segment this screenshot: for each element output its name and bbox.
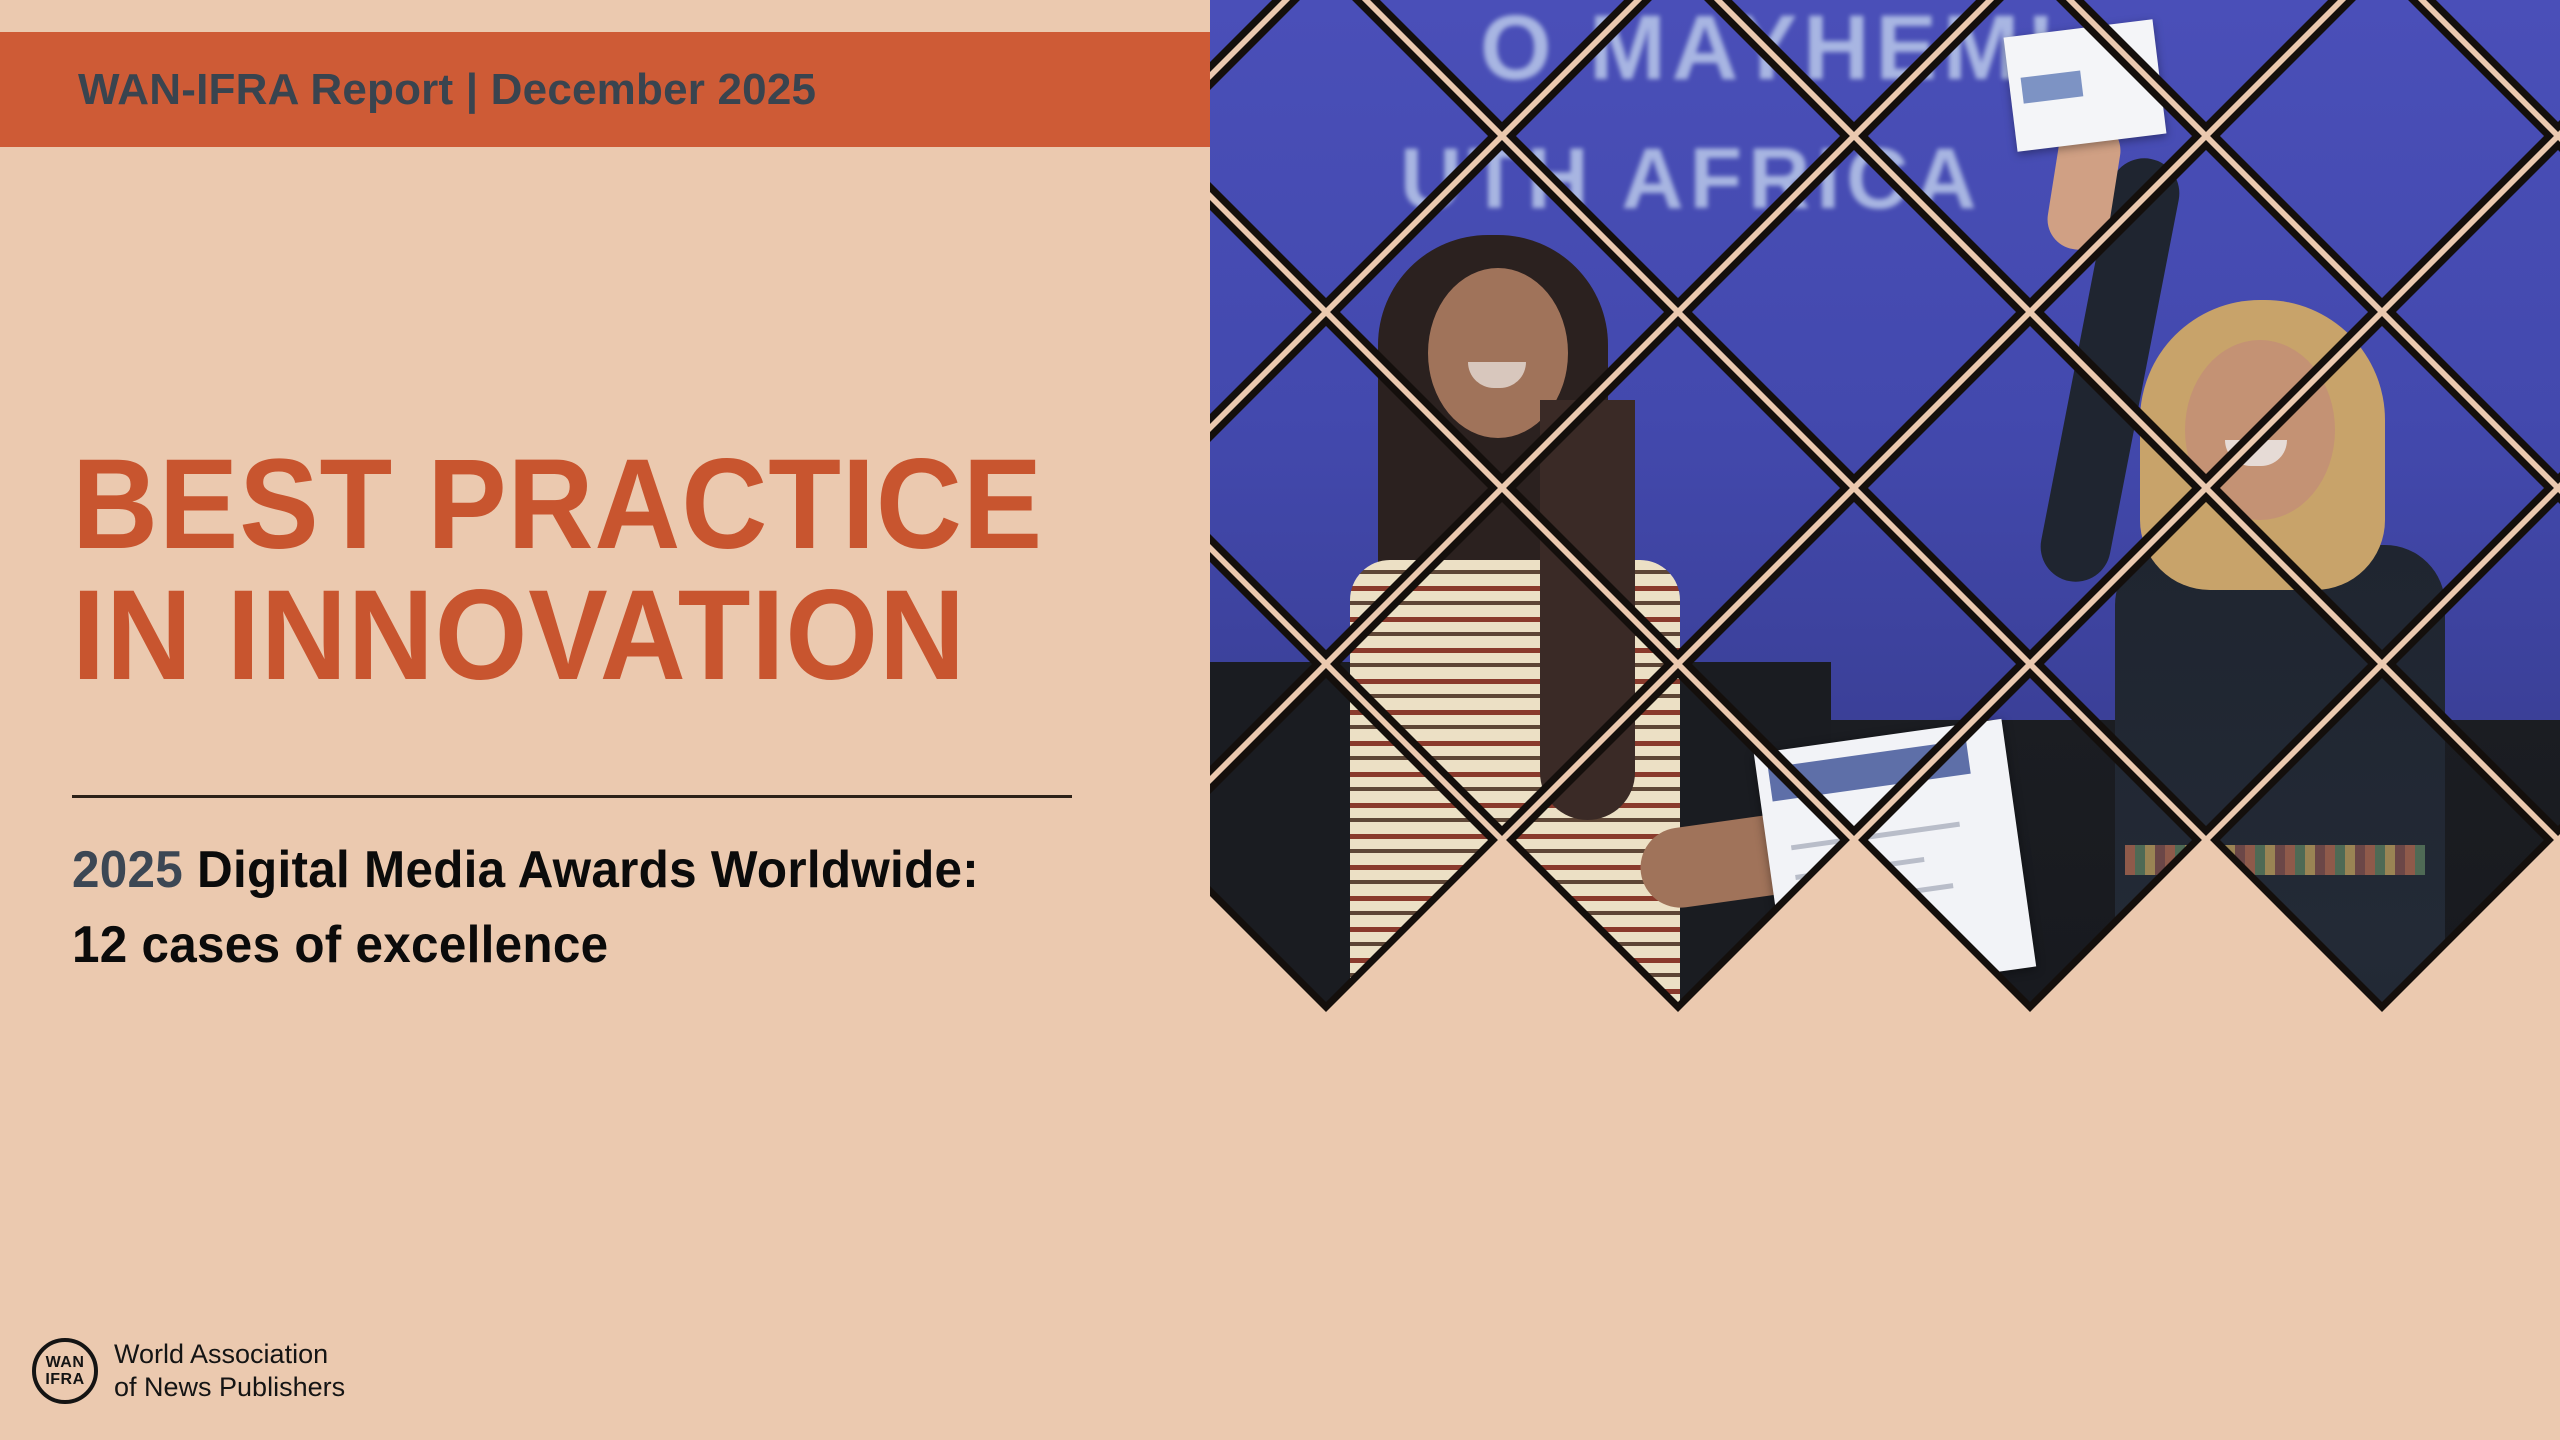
logo-mark-line-2: IFRA: [45, 1371, 84, 1388]
report-cover-page: WAN-IFRA Report | December 2025 BEST PRA…: [0, 0, 2560, 1440]
subtitle-year: 2025: [72, 841, 183, 899]
title-line-1: BEST PRACTICE: [72, 440, 1058, 571]
wan-ifra-logo: WAN IFRA World Association of News Publi…: [32, 1338, 345, 1404]
wan-ifra-logo-icon: WAN IFRA: [32, 1338, 98, 1404]
diamond-mask-overlay: [1210, 0, 2560, 1440]
title-divider: [72, 795, 1072, 798]
organisation-name-line-2: of News Publishers: [114, 1371, 345, 1404]
cover-photo-mosaic: O MAYHEM! UTH AFRICA: [1210, 0, 2560, 1440]
page-title: BEST PRACTICE IN INNOVATION: [72, 440, 1132, 701]
title-line-2: IN INNOVATION: [72, 571, 1058, 702]
banner-title: WAN-IFRA Report | December 2025: [78, 65, 816, 115]
organisation-name: World Association of News Publishers: [114, 1338, 345, 1404]
subtitle-line-2: 12 cases of excellence: [72, 915, 608, 975]
organisation-name-line-1: World Association: [114, 1338, 345, 1371]
report-banner: WAN-IFRA Report | December 2025: [0, 32, 1292, 147]
subtitle-line-1-rest: Digital Media Awards Worldwide:: [183, 841, 979, 899]
logo-mark-line-1: WAN: [46, 1354, 85, 1371]
subtitle-line-1: 2025 Digital Media Awards Worldwide:: [72, 840, 979, 900]
